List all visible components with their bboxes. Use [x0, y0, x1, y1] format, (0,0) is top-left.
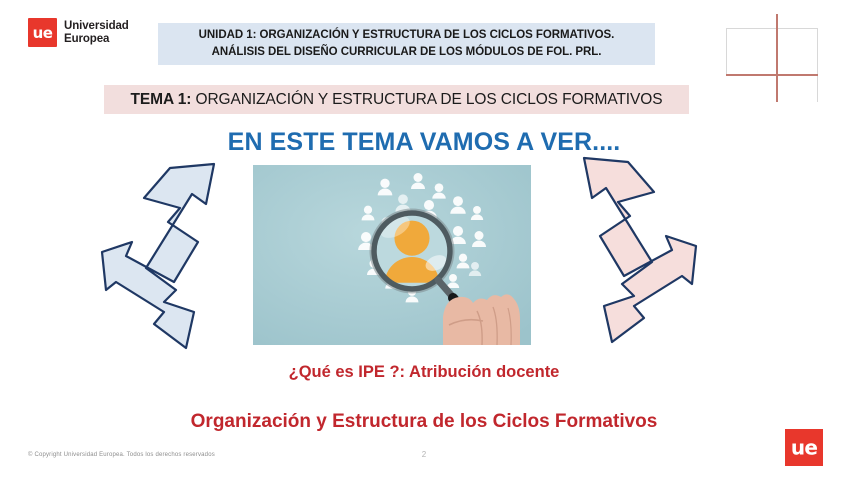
- tema-title-line: TEMA 1: ORGANIZACIÓN Y ESTRUCTURA DE LOS…: [131, 91, 663, 109]
- ue-logo-text: ue: [28, 24, 57, 42]
- bent-double-arrow-left-icon: [100, 158, 230, 358]
- grid-line-red-vertical: [776, 14, 778, 102]
- unit-title-banner: UNIDAD 1: ORGANIZACIÓN Y ESTRUCTURA DE L…: [158, 23, 655, 65]
- magnifier-people-photo: [253, 165, 531, 345]
- tema-title-banner: TEMA 1: ORGANIZACIÓN Y ESTRUCTURA DE LOS…: [104, 85, 689, 114]
- bent-double-arrow-right-icon: [568, 152, 698, 367]
- ue-logo-mark: ue: [28, 18, 57, 47]
- grid-line-right: [817, 28, 818, 102]
- brand-name-line2: Europea: [64, 33, 129, 46]
- unit-title-line1: UNIDAD 1: ORGANIZACIÓN Y ESTRUCTURA DE L…: [199, 27, 615, 44]
- footer-ue-logo-text: ue: [785, 435, 823, 459]
- unit-title-line2: ANÁLISIS DEL DISEÑO CURRICULAR DE LOS MÓ…: [212, 44, 602, 61]
- tema-label: TEMA 1:: [131, 91, 192, 108]
- footer-page-number: 2: [0, 450, 848, 459]
- grid-line-left: [726, 28, 727, 75]
- grid-line-top: [726, 28, 818, 29]
- brand-name: Universidad Europea: [64, 20, 129, 46]
- section-headline: EN ESTE TEMA VAMOS A VER....: [0, 128, 848, 157]
- decorative-grid: [726, 14, 834, 102]
- slide-canvas: ue Universidad Europea UNIDAD 1: ORGANIZ…: [0, 0, 848, 477]
- caption-ipe: ¿Qué es IPE ?: Atribución docente: [0, 363, 848, 382]
- brand-logo: ue Universidad Europea: [28, 18, 129, 47]
- caption-organizacion: Organización y Estructura de los Ciclos …: [0, 411, 848, 433]
- footer-ue-logo: ue: [785, 429, 823, 466]
- photo-illustration: [253, 165, 531, 345]
- grid-line-red-horizontal: [726, 74, 818, 76]
- tema-text: ORGANIZACIÓN Y ESTRUCTURA DE LOS CICLOS …: [191, 91, 662, 108]
- brand-name-line1: Universidad: [64, 20, 129, 33]
